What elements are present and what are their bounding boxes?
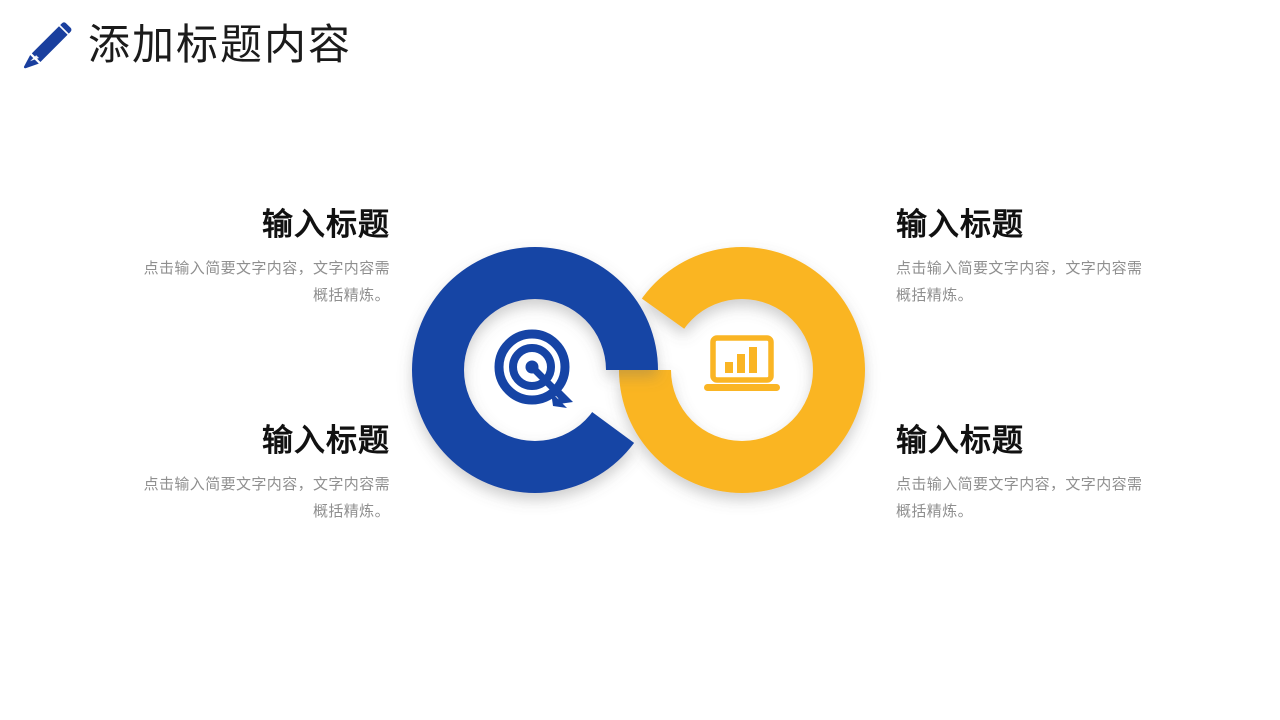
- block-title: 输入标题: [134, 208, 390, 242]
- block-title: 输入标题: [896, 424, 1152, 458]
- block-body: 点击输入简要文字内容，文字内容需概括精炼。: [134, 256, 390, 309]
- target-arrow-icon: [499, 334, 573, 408]
- block-body: 点击输入简要文字内容，文字内容需概括精炼。: [896, 472, 1152, 525]
- text-block-bottom-left: 输入标题 点击输入简要文字内容，文字内容需概括精炼。: [134, 424, 390, 525]
- slide-header: 添加标题内容: [18, 20, 352, 76]
- block-title: 输入标题: [896, 208, 1152, 242]
- slide-canvas: 添加标题内容 输入标题 点击输入简要文字内容，文字内容需概括精炼。 输入标题 点…: [0, 0, 1280, 720]
- laptop-chart-icon: [704, 338, 780, 391]
- text-block-top-right: 输入标题 点击输入简要文字内容，文字内容需概括精炼。: [896, 208, 1152, 309]
- block-body: 点击输入简要文字内容，文字内容需概括精炼。: [896, 256, 1152, 309]
- infinity-rings-graphic: [385, 222, 895, 522]
- block-title: 输入标题: [134, 424, 390, 458]
- pencil-icon: [18, 20, 74, 76]
- text-block-top-left: 输入标题 点击输入简要文字内容，文字内容需概括精炼。: [134, 208, 390, 309]
- text-block-bottom-right: 输入标题 点击输入简要文字内容，文字内容需概括精炼。: [896, 424, 1152, 525]
- block-body: 点击输入简要文字内容，文字内容需概括精炼。: [134, 472, 390, 525]
- page-title: 添加标题内容: [88, 25, 352, 71]
